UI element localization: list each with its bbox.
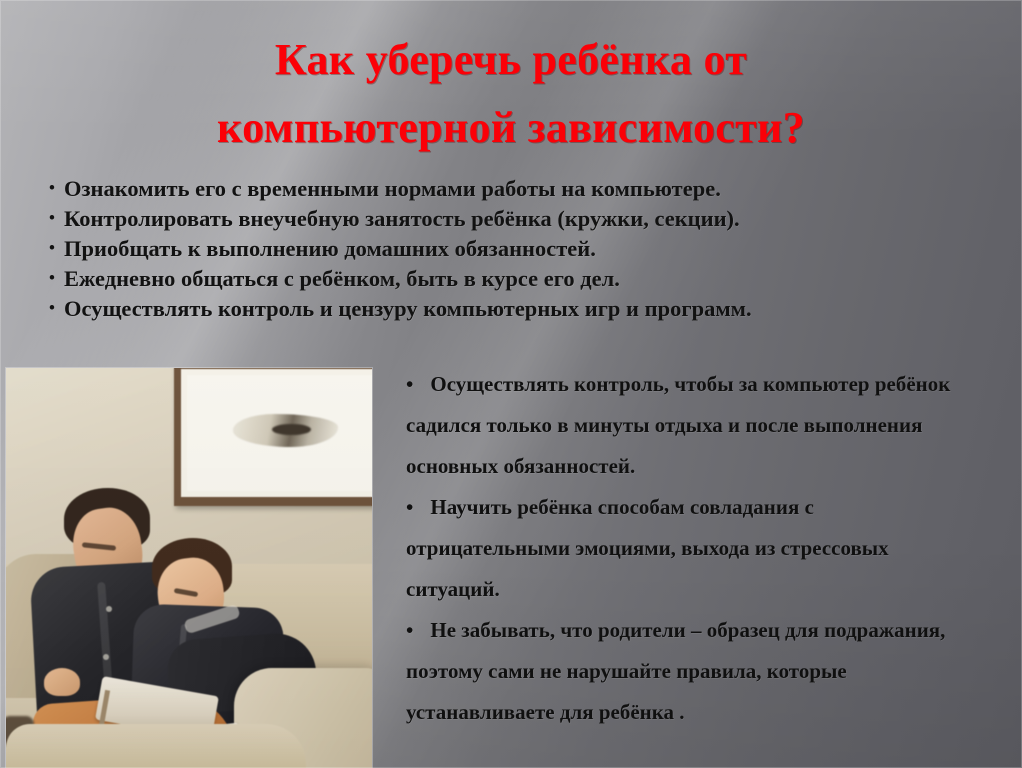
bullet-icon: •: [406, 618, 413, 642]
right-paragraph: •Осуществлять контроль, чтобы за компьют…: [406, 364, 966, 487]
right-paragraph-text: Не забывать, что родители – образец для …: [406, 618, 945, 724]
right-paragraph-text: Осуществлять контроль, чтобы за компьюте…: [406, 372, 950, 478]
photo-overlay-tone: [6, 368, 372, 768]
list-item: • Ежедневно общаться с ребёнком, быть в …: [40, 264, 990, 294]
bullet-icon: •: [40, 204, 64, 234]
slide-title: Как уберечь ребёнка от компьютерной зави…: [0, 26, 1022, 162]
list-item-label: Ознакомить его с временными нормами рабо…: [64, 174, 721, 204]
presentation-slide: Как уберечь ребёнка от компьютерной зави…: [0, 0, 1022, 768]
list-item: • Приобщать к выполнению домашних обязан…: [40, 234, 990, 264]
bullet-icon: •: [40, 234, 64, 264]
list-item-label: Ежедневно общаться с ребёнком, быть в ку…: [64, 264, 620, 294]
main-bullet-list: • Ознакомить его с временными нормами ра…: [40, 174, 990, 324]
list-item-label: Приобщать к выполнению домашних обязанно…: [64, 234, 596, 264]
list-item: • Ознакомить его с временными нормами ра…: [40, 174, 990, 204]
right-paragraph: •Научить ребёнка способам совладания с о…: [406, 487, 966, 610]
right-paragraph-text: Научить ребёнка способам совладания с от…: [406, 495, 889, 601]
right-paragraph: •Не забывать, что родители – образец для…: [406, 610, 966, 733]
bullet-icon: •: [40, 264, 64, 294]
bullet-icon: •: [40, 174, 64, 204]
list-item: • Контролировать внеучебную занятость ре…: [40, 204, 990, 234]
right-paragraph-block: •Осуществлять контроль, чтобы за компьют…: [406, 364, 966, 733]
slide-title-line-2: компьютерной зависимости?: [0, 94, 1022, 162]
list-item-label: Осуществлять контроль и цензуру компьюте…: [64, 294, 752, 324]
list-item-label: Контролировать внеучебную занятость ребё…: [64, 204, 740, 234]
bullet-icon: •: [40, 294, 64, 324]
photo-father-and-son: [6, 368, 372, 768]
bullet-icon: •: [406, 372, 413, 396]
list-item: • Осуществлять контроль и цензуру компью…: [40, 294, 990, 324]
slide-title-line-1: Как уберечь ребёнка от: [0, 26, 1022, 94]
bullet-icon: •: [406, 495, 413, 519]
